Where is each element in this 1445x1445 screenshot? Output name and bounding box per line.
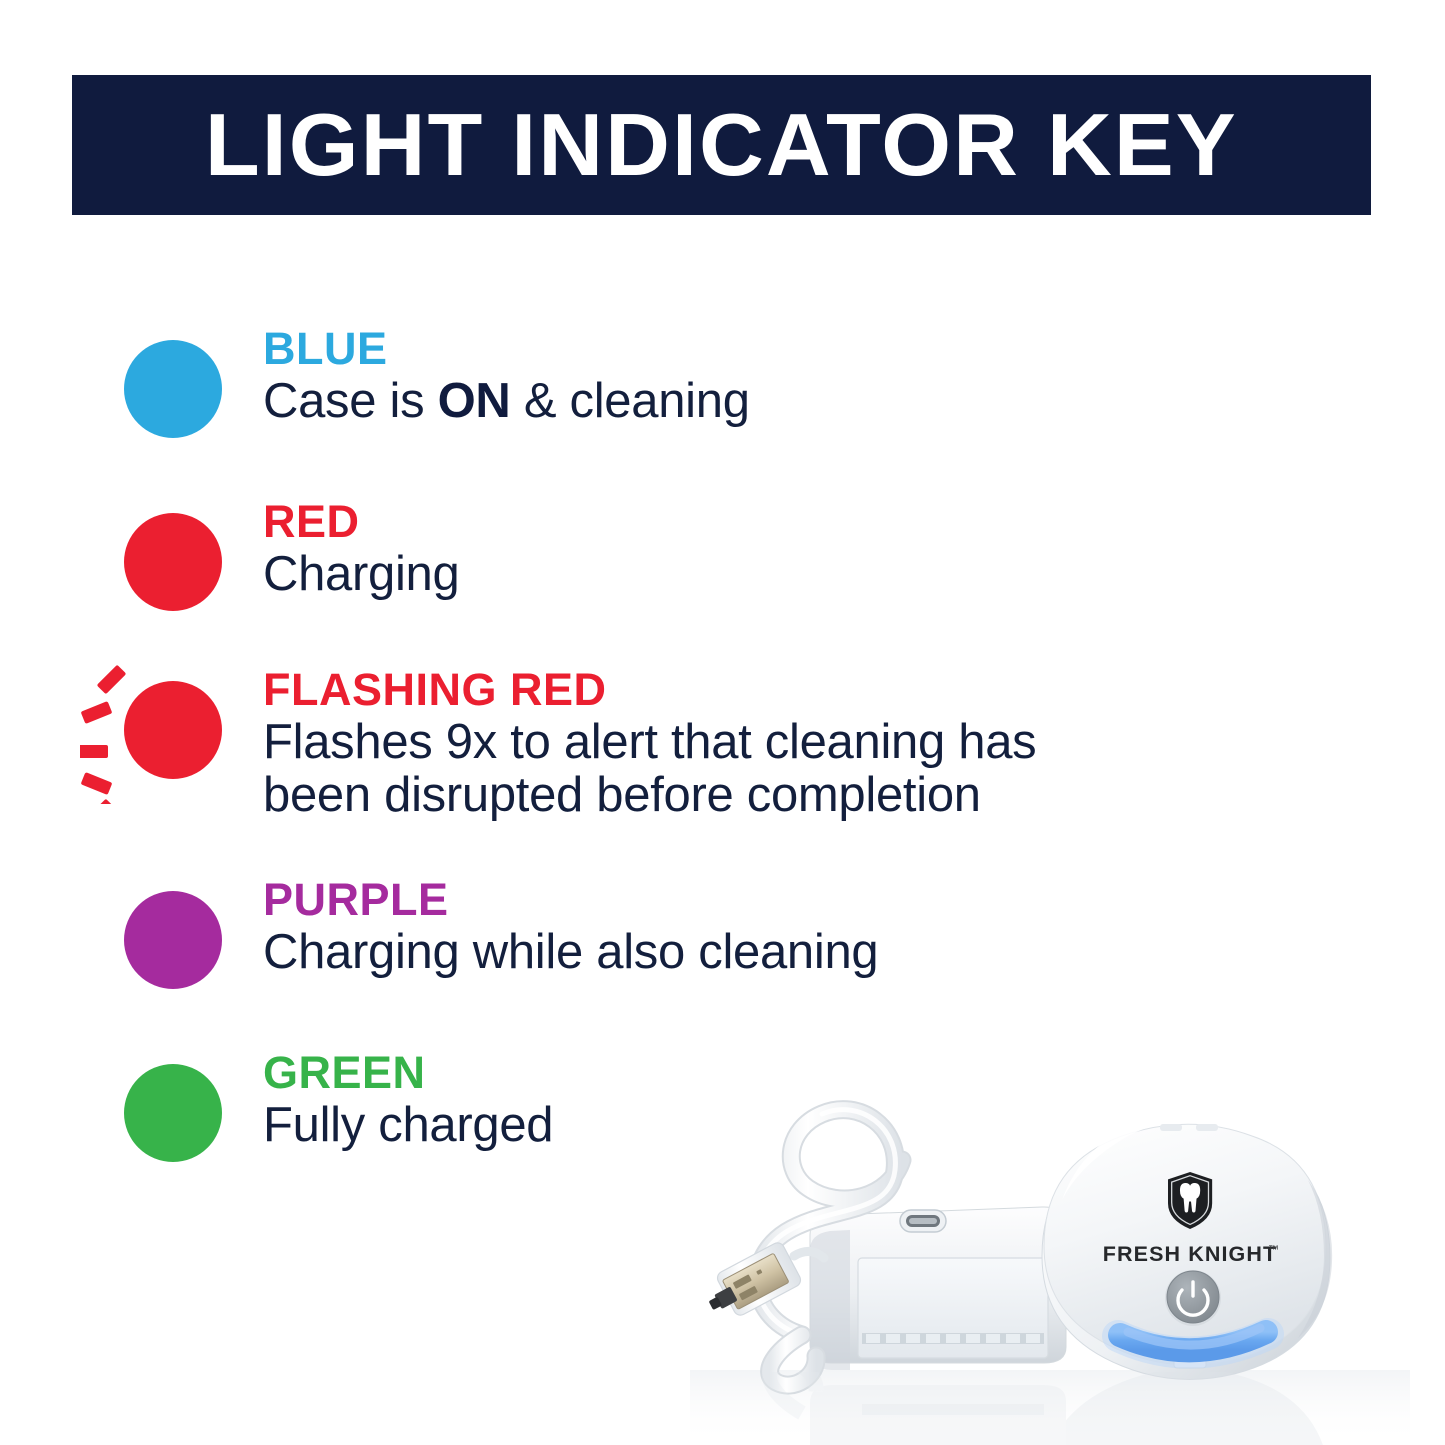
legend-text-blue: BLUE Case is ON & cleaning — [263, 326, 1383, 428]
power-button[interactable] — [1165, 1270, 1221, 1326]
legend-label-purple: PURPLE — [263, 877, 1383, 922]
legend-desc-red: Charging — [263, 548, 1383, 601]
retainer-case: FRESH KNIGHT ™ — [1042, 1114, 1332, 1379]
indicator-dot-green — [124, 1064, 222, 1162]
hinge-nub-right — [1196, 1124, 1218, 1131]
charging-base-unit — [810, 1207, 1066, 1370]
brand-name: FRESH KNIGHT — [1103, 1242, 1277, 1266]
indicator-dot-wrap-blue — [124, 340, 224, 440]
legend-label-red: RED — [263, 499, 1383, 544]
legend-text-flashing-red: FLASHING RED Flashes 9x to alert that cl… — [263, 667, 1383, 822]
indicator-dot-wrap-flashing-red — [124, 681, 224, 781]
indicator-dot-wrap-green — [124, 1064, 224, 1164]
base-led-strip — [862, 1333, 1044, 1344]
trademark-symbol: ™ — [1268, 1244, 1279, 1256]
usb-c-port-icon — [900, 1210, 946, 1232]
indicator-dot-purple — [124, 891, 222, 989]
legend-label-flashing-red: FLASHING RED — [263, 667, 1383, 712]
legend-desc-purple: Charging while also cleaning — [263, 926, 1383, 979]
hinge-nub-left — [1160, 1124, 1182, 1131]
indicator-dot-flashing-red — [124, 681, 222, 779]
product-photo: FRESH KNIGHT ™ — [690, 1020, 1410, 1445]
indicator-dot-wrap-purple — [124, 891, 224, 991]
indicator-dot-red — [124, 513, 222, 611]
legend-text-red: RED Charging — [263, 499, 1383, 601]
legend-desc-flashing-red: Flashes 9x to alert that cleaning hasbee… — [263, 716, 1383, 822]
legend-text-purple: PURPLE Charging while also cleaning — [263, 877, 1383, 979]
indicator-dot-blue — [124, 340, 222, 438]
brand-wordmark: FRESH KNIGHT ™ — [1103, 1242, 1279, 1266]
legend-desc-blue: Case is ON & cleaning — [263, 375, 1383, 428]
indicator-dot-wrap-red — [124, 513, 224, 613]
legend-label-blue: BLUE — [263, 326, 1383, 371]
